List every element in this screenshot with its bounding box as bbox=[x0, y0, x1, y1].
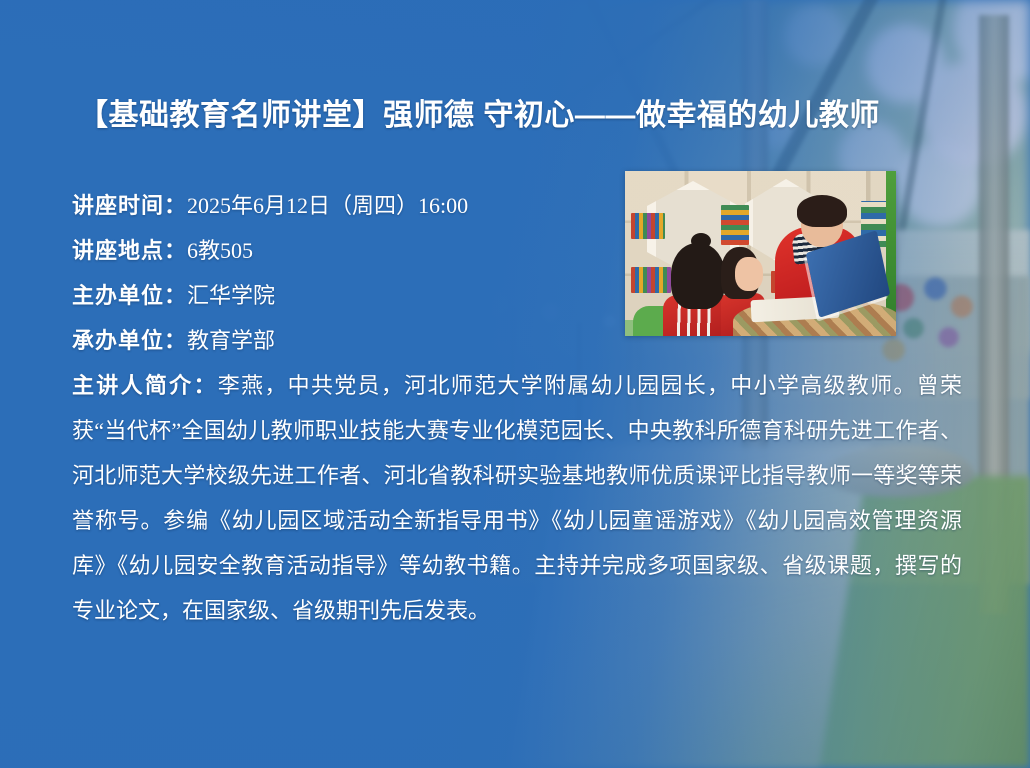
picture-books bbox=[721, 205, 749, 245]
info-label-time: 讲座时间： bbox=[72, 193, 187, 218]
info-value-host: 教育学部 bbox=[187, 328, 275, 353]
info-row-time: 讲座时间：2025年6月12日（周四）16:00 bbox=[72, 183, 612, 228]
child-face bbox=[735, 257, 763, 291]
info-row-organizer: 主办单位：汇华学院 bbox=[72, 273, 612, 318]
child-hair-bun bbox=[691, 233, 711, 249]
info-label-location: 讲座地点： bbox=[72, 238, 187, 263]
speaker-bio-text: 李燕，中共党员，河北师范大学附属幼儿园园长，中小学高级教师。曾荣获“当代杯”全国… bbox=[72, 373, 962, 623]
info-row-host: 承办单位：教育学部 bbox=[72, 318, 612, 363]
info-row-location: 讲座地点：6教505 bbox=[72, 228, 612, 273]
info-label-host: 承办单位： bbox=[72, 328, 187, 353]
info-label-organizer: 主办单位： bbox=[72, 283, 187, 308]
info-value-location: 6教505 bbox=[187, 238, 253, 263]
teacher-hair bbox=[797, 195, 847, 227]
picture-books bbox=[631, 213, 665, 239]
picture-books bbox=[631, 267, 671, 293]
speaker-bio-label: 主讲人简介： bbox=[72, 373, 218, 398]
lecture-photo bbox=[625, 171, 896, 336]
info-value-time: 2025年6月12日（周四）16:00 bbox=[187, 193, 468, 218]
slide-content: 【基础教育名师讲堂】强师德 守初心——做幸福的幼儿教师 bbox=[0, 0, 1030, 768]
info-value-organizer: 汇华学院 bbox=[187, 283, 275, 308]
child-hair bbox=[671, 243, 725, 309]
lecture-announcement-slide: 【基础教育名师讲堂】强师德 守初心——做幸福的幼儿教师 bbox=[0, 0, 1030, 768]
speaker-bio: 主讲人简介：李燕，中共党员，河北师范大学附属幼儿园园长，中小学高级教师。曾荣获“… bbox=[72, 363, 962, 633]
page-title: 【基础教育名师讲堂】强师德 守初心——做幸福的幼儿教师 bbox=[78, 96, 978, 136]
lecture-info-list: 讲座时间：2025年6月12日（周四）16:00 讲座地点：6教505 主办单位… bbox=[72, 183, 612, 363]
